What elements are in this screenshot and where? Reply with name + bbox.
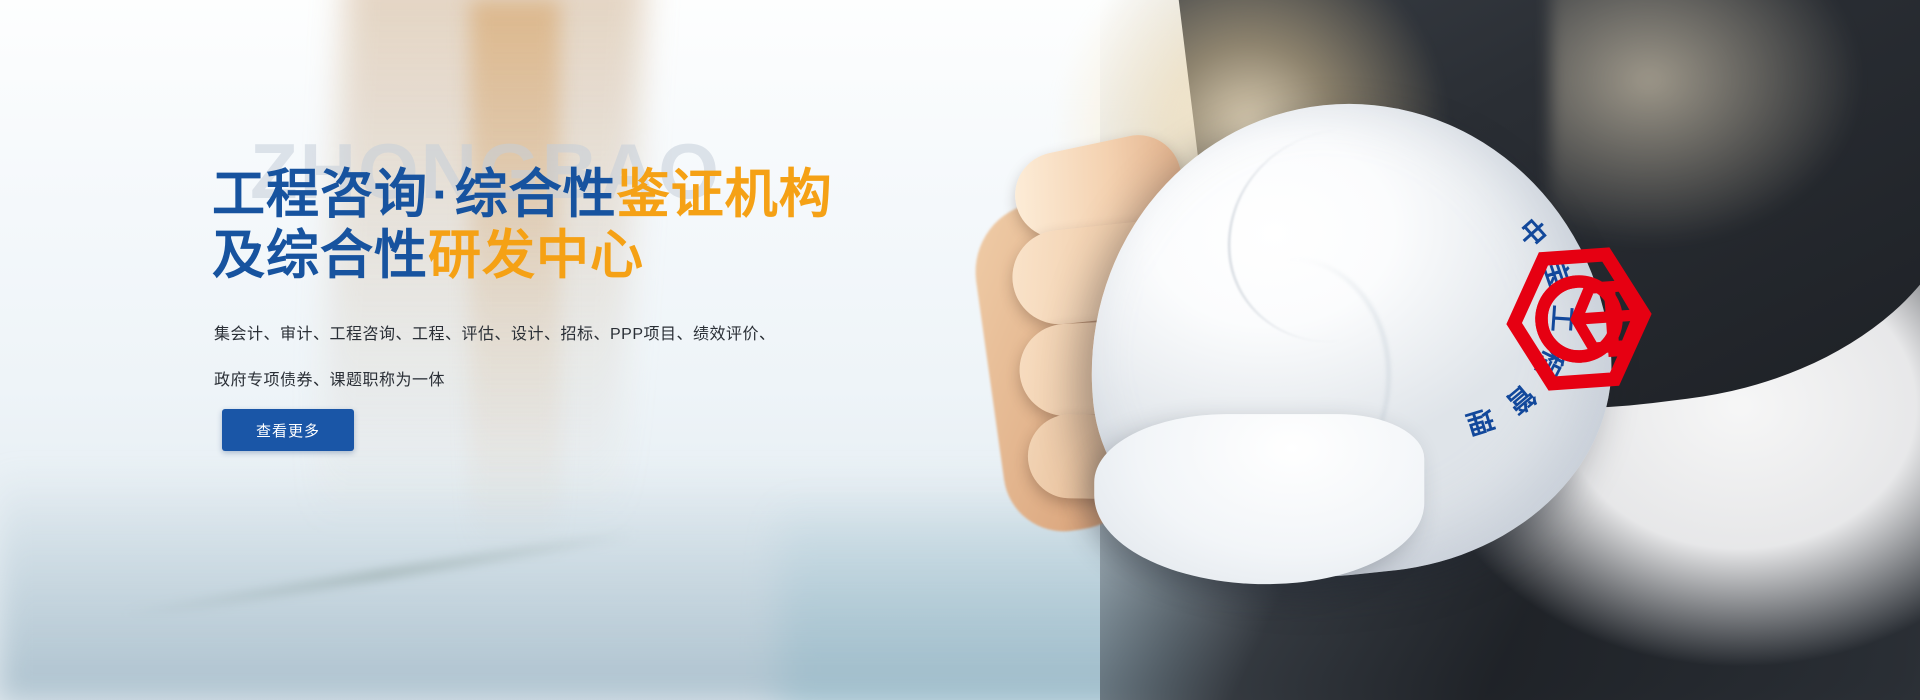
headline-line1-blue: 工程咨询 [212, 165, 428, 224]
headline-separator-dot: · [428, 165, 455, 224]
headline-line1-blue-2: 综合性 [455, 165, 617, 224]
headline-line-2: 及综合性研发中心 [212, 225, 972, 286]
headline-line2-blue: 及综合性 [212, 226, 428, 285]
subtitle: 集会计、审计、工程咨询、工程、评估、设计、招标、PPP项目、绩效评价、 政府专项… [214, 312, 814, 403]
headline-line-1: 工程咨询·综合性鉴证机构 [212, 164, 972, 225]
subtitle-line-2: 政府专项债券、课题职称为一体 [214, 358, 814, 404]
sleeve-highlight [1550, 0, 1880, 260]
headline: 工程咨询·综合性鉴证机构 及综合性研发中心 [212, 164, 972, 287]
hero-content: ZHONGBAO 工程咨询·综合性鉴证机构 及综合性研发中心 集会计、审计、工程… [212, 0, 972, 700]
view-more-button[interactable]: 查看更多 [222, 409, 354, 451]
zhongbao-hexagon-emblem-icon [1499, 239, 1659, 399]
hero-banner: 中宝工程管理 ZHONGBAO 工程咨询·综合性鉴证机构 及综合性研发中心 [0, 0, 1920, 700]
headline-line1-orange: 鉴证机构 [617, 165, 833, 224]
headline-line2-orange: 研发中心 [428, 226, 644, 285]
subtitle-line-1: 集会计、审计、工程咨询、工程、评估、设计、招标、PPP项目、绩效评价、 [214, 312, 814, 358]
